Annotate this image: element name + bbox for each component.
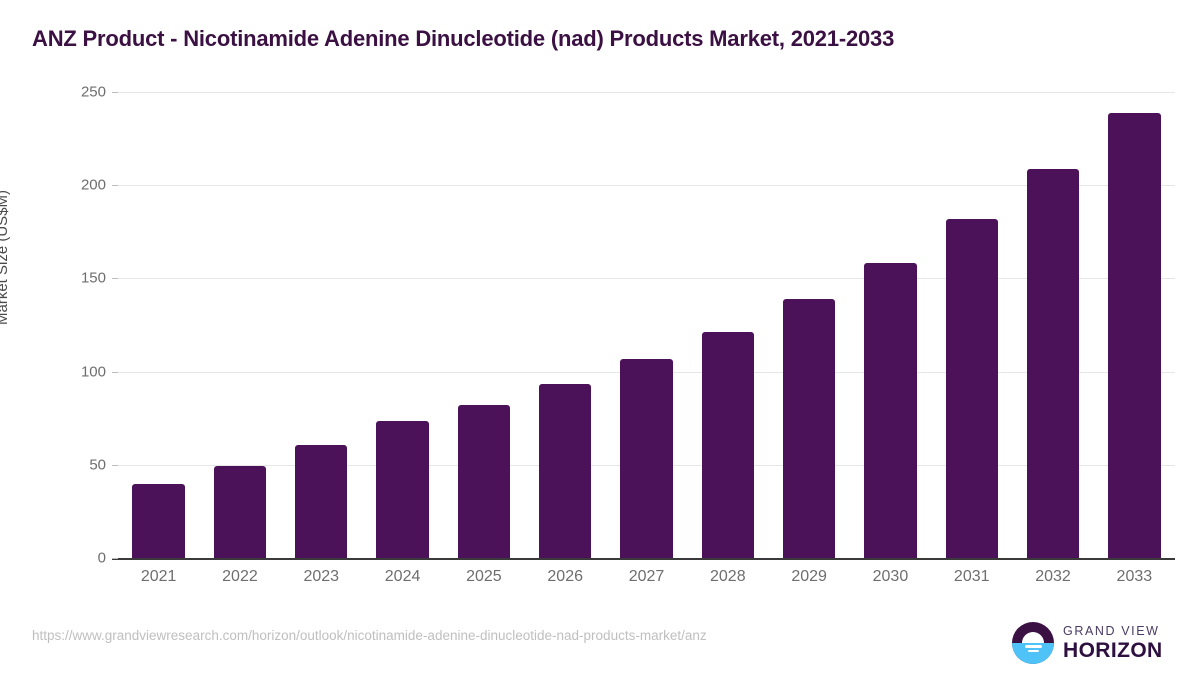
x-axis-tick-label: 2028 <box>710 568 746 586</box>
bar-2028[interactable] <box>702 332 754 558</box>
chart-page: ANZ Product - Nicotinamide Adenine Dinuc… <box>0 0 1200 675</box>
y-axis-tick-label: 50 <box>89 456 106 473</box>
x-axis-line <box>112 558 1175 560</box>
horizon-sun-circle-icon <box>1012 622 1054 664</box>
bar-2031[interactable] <box>946 219 998 558</box>
x-axis-tick-label: 2022 <box>222 568 258 586</box>
bar-2030[interactable] <box>864 263 916 558</box>
x-axis-tick-label: 2023 <box>303 568 339 586</box>
y-axis-tick-label: 100 <box>81 363 106 380</box>
x-axis-tick-label: 2032 <box>1035 568 1071 586</box>
y-axis-tick-mark <box>112 372 118 373</box>
y-axis-tick-mark <box>112 278 118 279</box>
x-axis-tick-label: 2024 <box>385 568 421 586</box>
bar-2029[interactable] <box>783 299 835 558</box>
x-axis-tick-label: 2026 <box>547 568 583 586</box>
x-axis-tick-label: 2025 <box>466 568 502 586</box>
y-axis-tick-label: 0 <box>98 550 106 567</box>
bar-2021[interactable] <box>132 484 184 558</box>
y-axis-title: Market Size (US$M) <box>0 190 11 325</box>
bar-2033[interactable] <box>1108 113 1160 558</box>
y-axis-tick-mark <box>112 185 118 186</box>
y-axis-tick-label: 150 <box>81 270 106 287</box>
x-axis-tick-label: 2030 <box>873 568 909 586</box>
source-url[interactable]: https://www.grandviewresearch.com/horizo… <box>32 628 707 643</box>
y-axis-tick-mark <box>112 465 118 466</box>
x-axis-tick-label: 2031 <box>954 568 990 586</box>
y-axis-tick-mark <box>112 92 118 93</box>
chart-plot-wrapper: Market Size (US$M) 050100150200250 20212… <box>0 0 1200 675</box>
bar-2032[interactable] <box>1027 169 1079 558</box>
bar-2027[interactable] <box>620 359 672 558</box>
bar-2023[interactable] <box>295 445 347 558</box>
gridline <box>118 185 1175 186</box>
bar-2026[interactable] <box>539 384 591 558</box>
logo-sun-shape <box>1022 632 1044 643</box>
gridline <box>118 92 1175 93</box>
x-axis-tick-label: 2029 <box>791 568 827 586</box>
logo-ray-upper <box>1025 645 1042 648</box>
y-axis-tick-label: 250 <box>81 84 106 101</box>
y-axis-tick-label: 200 <box>81 177 106 194</box>
brand-logo-text: GRAND VIEW HORIZON <box>1063 625 1163 662</box>
x-axis-tick-label: 2027 <box>629 568 665 586</box>
brand-name-bottom: HORIZON <box>1063 640 1163 661</box>
x-axis-tick-label: 2033 <box>1117 568 1153 586</box>
bar-2024[interactable] <box>376 421 428 558</box>
logo-ray-lower <box>1028 650 1039 653</box>
x-axis-tick-label: 2021 <box>141 568 177 586</box>
brand-logo[interactable]: GRAND VIEW HORIZON <box>1012 620 1164 666</box>
y-axis-tick-mark <box>112 558 118 559</box>
bar-2022[interactable] <box>214 466 266 558</box>
brand-name-top: GRAND VIEW <box>1063 625 1163 638</box>
bar-2025[interactable] <box>458 405 510 558</box>
gridline <box>118 278 1175 279</box>
